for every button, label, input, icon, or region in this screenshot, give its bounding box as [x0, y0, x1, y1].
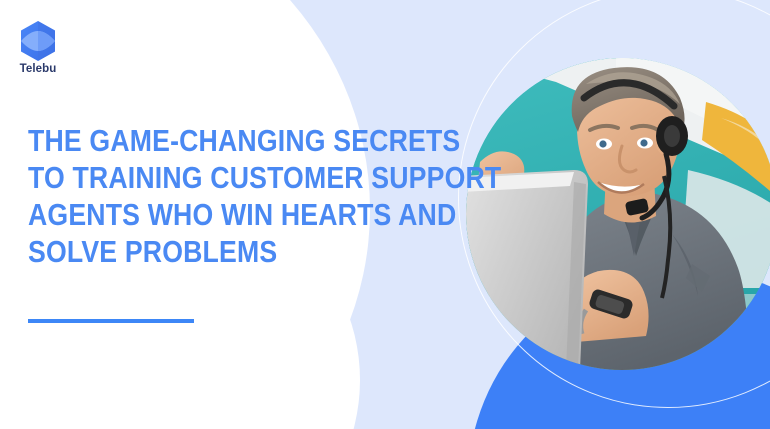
headline-line-1: THE GAME-CHANGING SECRETS	[28, 122, 398, 159]
blog-banner: Telebu THE GAME-CHANGING SECRETS TO TRAI…	[0, 0, 770, 429]
headline-line-2: TO TRAINING CUSTOMER SUPPORT	[28, 159, 398, 196]
headline-line-3: AGENTS WHO WIN HEARTS AND	[28, 196, 398, 233]
page-title: THE GAME-CHANGING SECRETS TO TRAINING CU…	[28, 122, 458, 270]
headline-line-4: SOLVE PROBLEMS	[28, 233, 398, 270]
title-underline-rule	[28, 319, 194, 323]
brand-name: Telebu	[8, 63, 68, 75]
telebu-hexagon-logo-icon	[18, 20, 58, 62]
brand-logo[interactable]: Telebu	[8, 20, 68, 75]
